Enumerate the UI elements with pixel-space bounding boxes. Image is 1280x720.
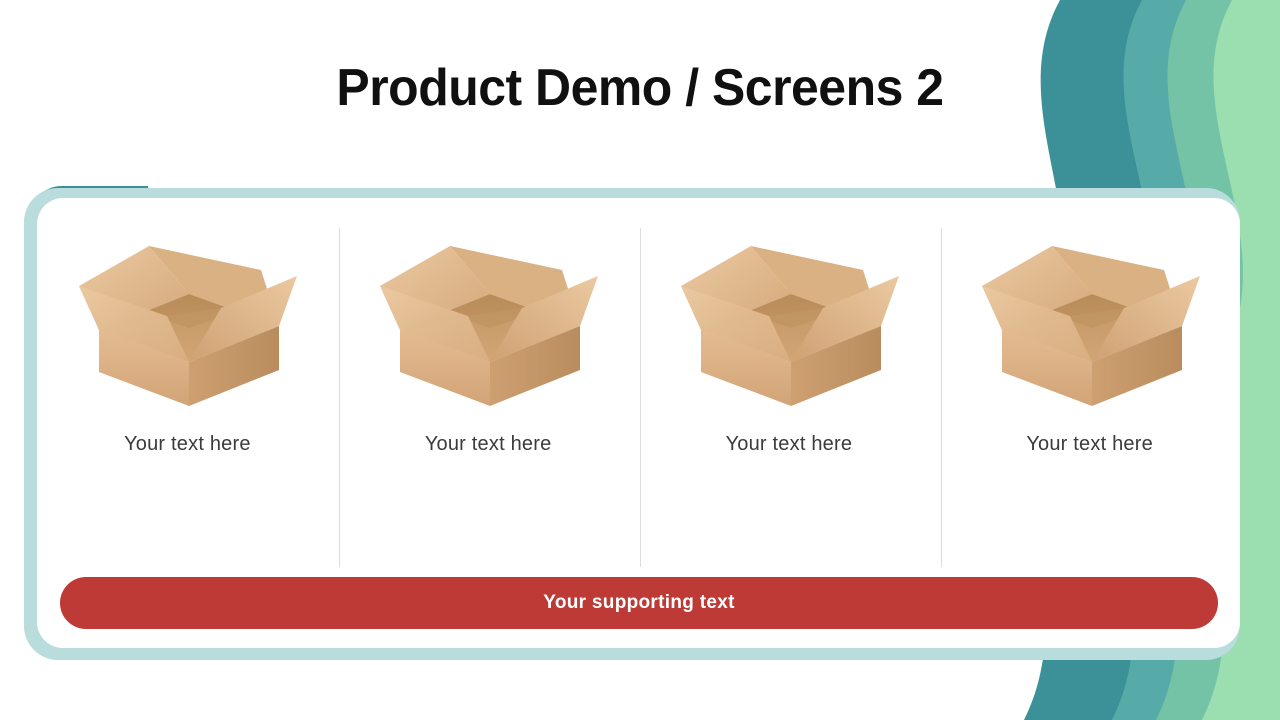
column-caption: Your text here: [124, 432, 251, 456]
supporting-text-bar[interactable]: Your supporting text: [60, 577, 1218, 629]
columns-container: Your text here: [37, 198, 1240, 570]
cardboard-box-icon: [673, 230, 905, 410]
content-card: Your text here: [37, 198, 1240, 648]
supporting-text-label: Your supporting text: [543, 592, 734, 614]
cardboard-box-icon: [372, 230, 604, 410]
feature-column-2[interactable]: Your text here: [338, 198, 639, 570]
feature-column-1[interactable]: Your text here: [37, 198, 338, 570]
feature-column-3[interactable]: Your text here: [639, 198, 940, 570]
slide-canvas: Product Demo / Screens 2: [0, 0, 1280, 720]
cardboard-box-icon: [71, 230, 303, 410]
page-title: Product Demo / Screens 2: [26, 60, 1255, 117]
feature-column-4[interactable]: Your text here: [939, 198, 1240, 570]
cardboard-box-icon: [974, 230, 1206, 410]
column-caption: Your text here: [726, 432, 853, 456]
column-caption: Your text here: [1026, 432, 1153, 456]
column-caption: Your text here: [425, 432, 552, 456]
